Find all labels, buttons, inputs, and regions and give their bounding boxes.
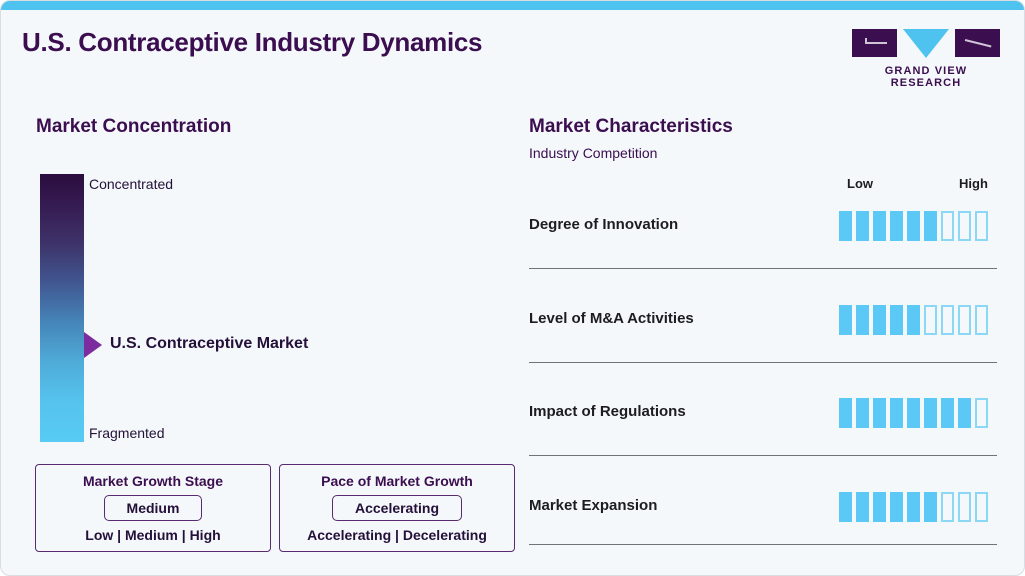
market-concentration-title: Market Concentration xyxy=(36,116,231,138)
market-growth-pace-box: Pace of Market Growth Accelerating Accel… xyxy=(279,464,515,552)
market-growth-pace-heading: Pace of Market Growth xyxy=(280,473,514,489)
concentration-top-label: Concentrated xyxy=(89,176,173,192)
rating-tick-filled xyxy=(873,398,886,428)
market-position-label: U.S. Contraceptive Market xyxy=(110,335,308,353)
scale-label-low: Low xyxy=(847,176,873,191)
logo-marks xyxy=(852,29,1000,59)
rating-tick-empty xyxy=(975,398,988,428)
characteristic-rating-bars xyxy=(839,492,988,522)
characteristic-label: Impact of Regulations xyxy=(529,403,686,420)
rating-tick-empty xyxy=(958,211,971,241)
brand-logo: GRAND VIEW RESEARCH xyxy=(852,29,1000,79)
rating-tick-filled xyxy=(856,492,869,522)
logo-r-mark-icon xyxy=(955,29,1000,57)
characteristic-row: Market Expansion xyxy=(529,482,997,576)
logo-g-notch-horizontal xyxy=(865,42,887,44)
page-title: U.S. Contraceptive Industry Dynamics xyxy=(22,27,482,58)
rating-tick-filled xyxy=(890,398,903,428)
row-separator xyxy=(529,544,997,545)
rating-tick-filled xyxy=(941,398,954,428)
rating-tick-filled xyxy=(839,492,852,522)
rating-tick-empty xyxy=(958,305,971,335)
rating-tick-filled xyxy=(890,211,903,241)
rating-tick-filled xyxy=(890,305,903,335)
rating-tick-filled xyxy=(839,211,852,241)
rating-tick-empty xyxy=(975,492,988,522)
rating-tick-filled xyxy=(873,305,886,335)
logo-v-triangle-icon xyxy=(903,29,949,58)
rating-tick-empty xyxy=(941,305,954,335)
rating-tick-filled xyxy=(924,211,937,241)
rating-tick-empty xyxy=(941,211,954,241)
infographic-canvas: U.S. Contraceptive Industry Dynamics GRA… xyxy=(0,0,1025,576)
row-separator xyxy=(529,362,997,363)
rating-tick-filled xyxy=(907,492,920,522)
rating-tick-filled xyxy=(907,398,920,428)
characteristic-rating-bars xyxy=(839,398,988,428)
rating-tick-filled xyxy=(856,211,869,241)
market-growth-stage-box: Market Growth Stage Medium Low | Medium … xyxy=(35,464,271,552)
rating-tick-filled xyxy=(924,492,937,522)
characteristic-row: Impact of Regulations xyxy=(529,388,997,482)
logo-g-notch-vertical xyxy=(865,38,867,44)
characteristic-label: Degree of Innovation xyxy=(529,216,678,233)
rating-tick-filled xyxy=(924,398,937,428)
rating-tick-empty xyxy=(975,305,988,335)
rating-tick-filled xyxy=(856,398,869,428)
rating-tick-filled xyxy=(856,305,869,335)
rating-tick-filled xyxy=(890,492,903,522)
characteristic-label: Level of M&A Activities xyxy=(529,310,694,327)
row-separator xyxy=(529,455,997,456)
characteristic-label: Market Expansion xyxy=(529,497,657,514)
concentration-bottom-label: Fragmented xyxy=(89,425,164,441)
rating-tick-filled xyxy=(907,305,920,335)
top-accent-bar xyxy=(1,1,1025,10)
rating-tick-empty xyxy=(975,211,988,241)
rating-tick-empty xyxy=(958,492,971,522)
rating-tick-filled xyxy=(873,492,886,522)
rating-tick-filled xyxy=(839,398,852,428)
rating-tick-empty xyxy=(941,492,954,522)
rating-tick-filled xyxy=(873,211,886,241)
row-separator xyxy=(529,268,997,269)
market-growth-pace-scale: Accelerating | Decelerating xyxy=(280,527,514,543)
concentration-gradient-bar xyxy=(40,174,84,442)
rating-tick-filled xyxy=(958,398,971,428)
market-characteristics-subtitle: Industry Competition xyxy=(529,145,657,161)
rating-tick-empty xyxy=(924,305,937,335)
logo-g-mark-icon xyxy=(852,29,897,57)
market-position-arrow-icon xyxy=(84,332,102,358)
market-growth-stage-value: Medium xyxy=(104,495,203,521)
characteristic-row: Degree of Innovation xyxy=(529,201,997,295)
rating-tick-filled xyxy=(907,211,920,241)
market-growth-pace-value: Accelerating xyxy=(332,495,462,521)
scale-label-high: High xyxy=(959,176,988,191)
logo-r-notch-diagonal xyxy=(965,39,992,47)
market-growth-stage-heading: Market Growth Stage xyxy=(36,473,270,489)
characteristic-rating-bars xyxy=(839,211,988,241)
characteristic-row: Level of M&A Activities xyxy=(529,295,997,389)
market-characteristics-title: Market Characteristics xyxy=(529,116,733,138)
logo-wordmark: GRAND VIEW RESEARCH xyxy=(852,65,1000,89)
market-growth-stage-scale: Low | Medium | High xyxy=(36,527,270,543)
characteristic-rating-bars xyxy=(839,305,988,335)
rating-tick-filled xyxy=(839,305,852,335)
